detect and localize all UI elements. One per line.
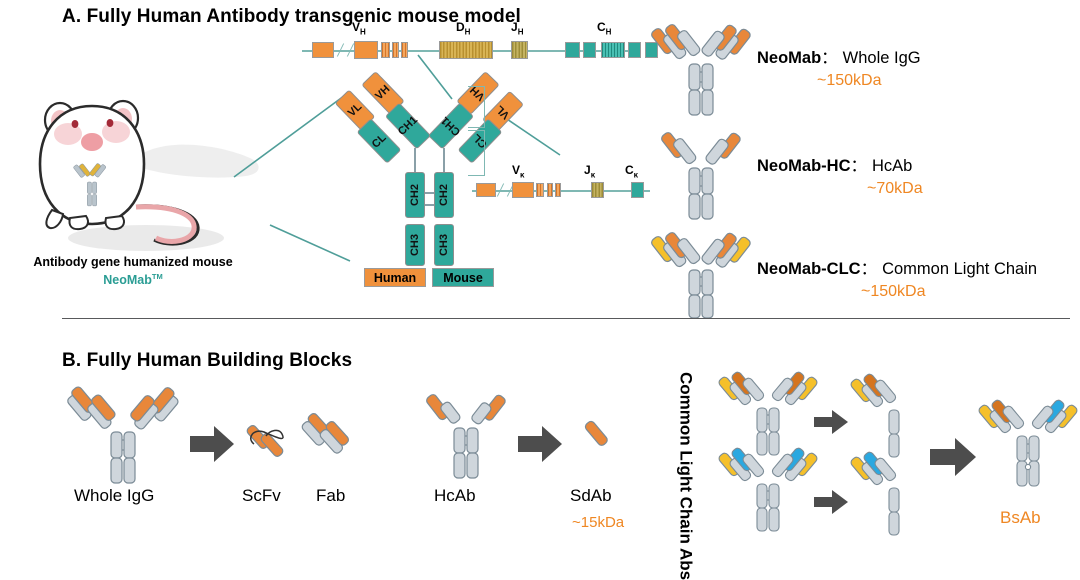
- arrow-hcab-to-sdab-icon: [516, 424, 564, 464]
- panel-b-title: B. Fully Human Building Blocks: [62, 350, 352, 372]
- ch-segment-cluster: [601, 42, 625, 58]
- vh-segment-distal: [312, 42, 334, 58]
- vh-segment-1: [354, 41, 378, 59]
- vh-label-text: V: [352, 20, 360, 34]
- product-mass-neomab: ~150kDa: [817, 72, 882, 90]
- domain-ch2-left: CH2: [405, 172, 425, 218]
- legend-mouse-label: Mouse: [443, 271, 483, 285]
- product-separator-2: ：: [861, 255, 878, 279]
- product-label-neomab: NeoMab ： Whole IgG: [757, 44, 921, 68]
- ch-segment-2: [583, 42, 596, 58]
- hinge-stem-left: [414, 148, 416, 174]
- dh-locus-label: DH: [456, 20, 470, 36]
- ck-label-sub: κ: [634, 170, 638, 179]
- icon-b-whole-igg: [72, 392, 174, 484]
- icon-scfv: [248, 420, 294, 464]
- product-label-neomab-clc: NeoMab-CLC ： Common Light Chain: [757, 255, 1037, 279]
- panel-a-title: A. Fully Human Antibody transgenic mouse…: [62, 6, 521, 28]
- arrow-igg-to-fragments-icon: [188, 424, 236, 464]
- domain-ch2-right-label: CH2: [438, 184, 450, 206]
- product-name-neomab-clc: NeoMab-CLC: [757, 260, 861, 279]
- vk-segment-4: [555, 183, 561, 197]
- brace-heavy-locus: [468, 86, 485, 128]
- jh-locus-label: JH: [511, 20, 523, 36]
- brace-light-locus: [468, 130, 485, 176]
- icon-sdab: [582, 418, 618, 454]
- ck-locus-label: Cκ: [625, 163, 638, 179]
- domain-vl-right-label: VL: [494, 103, 512, 121]
- domain-ch3-right-label: CH3: [438, 234, 450, 256]
- icon-clc-ab-orange: [722, 376, 814, 456]
- ck-label-text: C: [625, 163, 634, 177]
- legend-human-label: Human: [374, 271, 416, 285]
- icon-neomab-hc: [663, 134, 739, 220]
- domain-ch3-right: CH3: [434, 224, 454, 266]
- domain-vh-left-label: VH: [373, 83, 392, 102]
- vh-segment-3: [392, 42, 399, 58]
- dh-label-text: D: [456, 20, 465, 34]
- label-common-light-chain-abs: Common Light Chain Abs: [676, 372, 696, 512]
- label-b-whole-igg: Whole IgG: [74, 486, 154, 506]
- domain-cl-left-label: CL: [370, 132, 389, 151]
- neomab-brand: NeoMabTM: [14, 272, 252, 287]
- product-mass-neomab-hc: ~70kDa: [867, 180, 923, 198]
- product-separator-0: ：: [821, 44, 838, 68]
- jh-label-sub: H: [518, 27, 524, 36]
- domain-ch1-left-label: CH1: [396, 114, 420, 138]
- ch-segment-1: [565, 42, 580, 58]
- jh-segment-cluster: [511, 41, 528, 59]
- icon-neomab-clc: [655, 236, 747, 318]
- neomab-brand-text: NeoMab: [103, 273, 152, 287]
- ch-locus-label: CH: [597, 20, 611, 36]
- product-mass-neomab-clc: ~150kDa: [861, 283, 926, 301]
- ch-segment-3: [628, 42, 641, 58]
- trademark-mark: TM: [152, 272, 163, 281]
- ck-segment: [631, 182, 644, 198]
- icon-half-molecule-blue: [854, 456, 914, 536]
- jk-segment: [591, 182, 604, 198]
- jh-label-text: J: [511, 20, 518, 34]
- product-kind-neomab-hc: HcAb: [872, 157, 912, 176]
- vh-segment-4: [401, 42, 408, 58]
- icon-neomab-whole-igg: [655, 28, 747, 116]
- legend-mouse: Mouse: [432, 268, 494, 287]
- vh-locus-label: VH: [352, 20, 366, 36]
- domain-ch2-left-label: CH2: [409, 184, 421, 206]
- hinge-stem-right: [443, 148, 445, 174]
- label-fab: Fab: [316, 486, 345, 506]
- domain-ch3-left-label: CH3: [409, 234, 421, 256]
- arrow-clc-blue-half-icon: [812, 488, 850, 516]
- panel-divider: [62, 318, 1070, 319]
- product-separator-1: ：: [851, 152, 868, 176]
- icon-clc-ab-blue: [722, 452, 814, 532]
- ch-label-text: C: [597, 20, 606, 34]
- domain-vl-left-label: VL: [346, 101, 364, 119]
- ch-label-sub: H: [606, 27, 612, 36]
- product-kind-neomab-clc: Common Light Chain: [882, 260, 1037, 279]
- domain-ch2-right: CH2: [434, 172, 454, 218]
- heavy-chain-locus: [302, 36, 632, 64]
- jk-locus-label: Jκ: [584, 163, 595, 179]
- product-label-neomab-hc: NeoMab-HC ： HcAb: [757, 152, 912, 176]
- label-sdab: SdAb: [570, 486, 612, 506]
- jk-label-text: J: [584, 163, 591, 177]
- mass-sdab: ~15kDa: [572, 514, 624, 531]
- mouse-caption: Antibody gene humanized mouse: [14, 255, 252, 269]
- product-name-neomab-hc: NeoMab-HC: [757, 157, 851, 176]
- label-b-hcab: HcAb: [434, 486, 476, 506]
- icon-half-molecule-orange: [854, 378, 914, 458]
- dh-label-sub: H: [465, 27, 471, 36]
- label-scfv: ScFv: [242, 486, 281, 506]
- vh-segment-2: [381, 42, 390, 58]
- icon-bsab: [982, 404, 1074, 490]
- domain-ch1-right-label: CH1: [439, 114, 463, 138]
- icon-b-hcab: [428, 396, 504, 480]
- jk-label-sub: κ: [591, 170, 595, 179]
- domain-ch3-left: CH3: [405, 224, 425, 266]
- legend-human: Human: [364, 268, 426, 287]
- arrow-to-bsab-icon: [928, 436, 978, 478]
- product-kind-neomab: Whole IgG: [843, 49, 921, 68]
- icon-fab: [306, 414, 364, 466]
- arrow-clc-orange-half-icon: [812, 408, 850, 436]
- product-name-neomab: NeoMab: [757, 49, 821, 68]
- vh-label-sub: H: [360, 27, 366, 36]
- dh-segment-cluster: [439, 41, 493, 59]
- chimeric-antibody-diagram: VL VH CL CH1 VH VL CH1 CL CH2 CH2 CH3 CH…: [330, 78, 550, 278]
- label-bsab: BsAb: [1000, 508, 1041, 528]
